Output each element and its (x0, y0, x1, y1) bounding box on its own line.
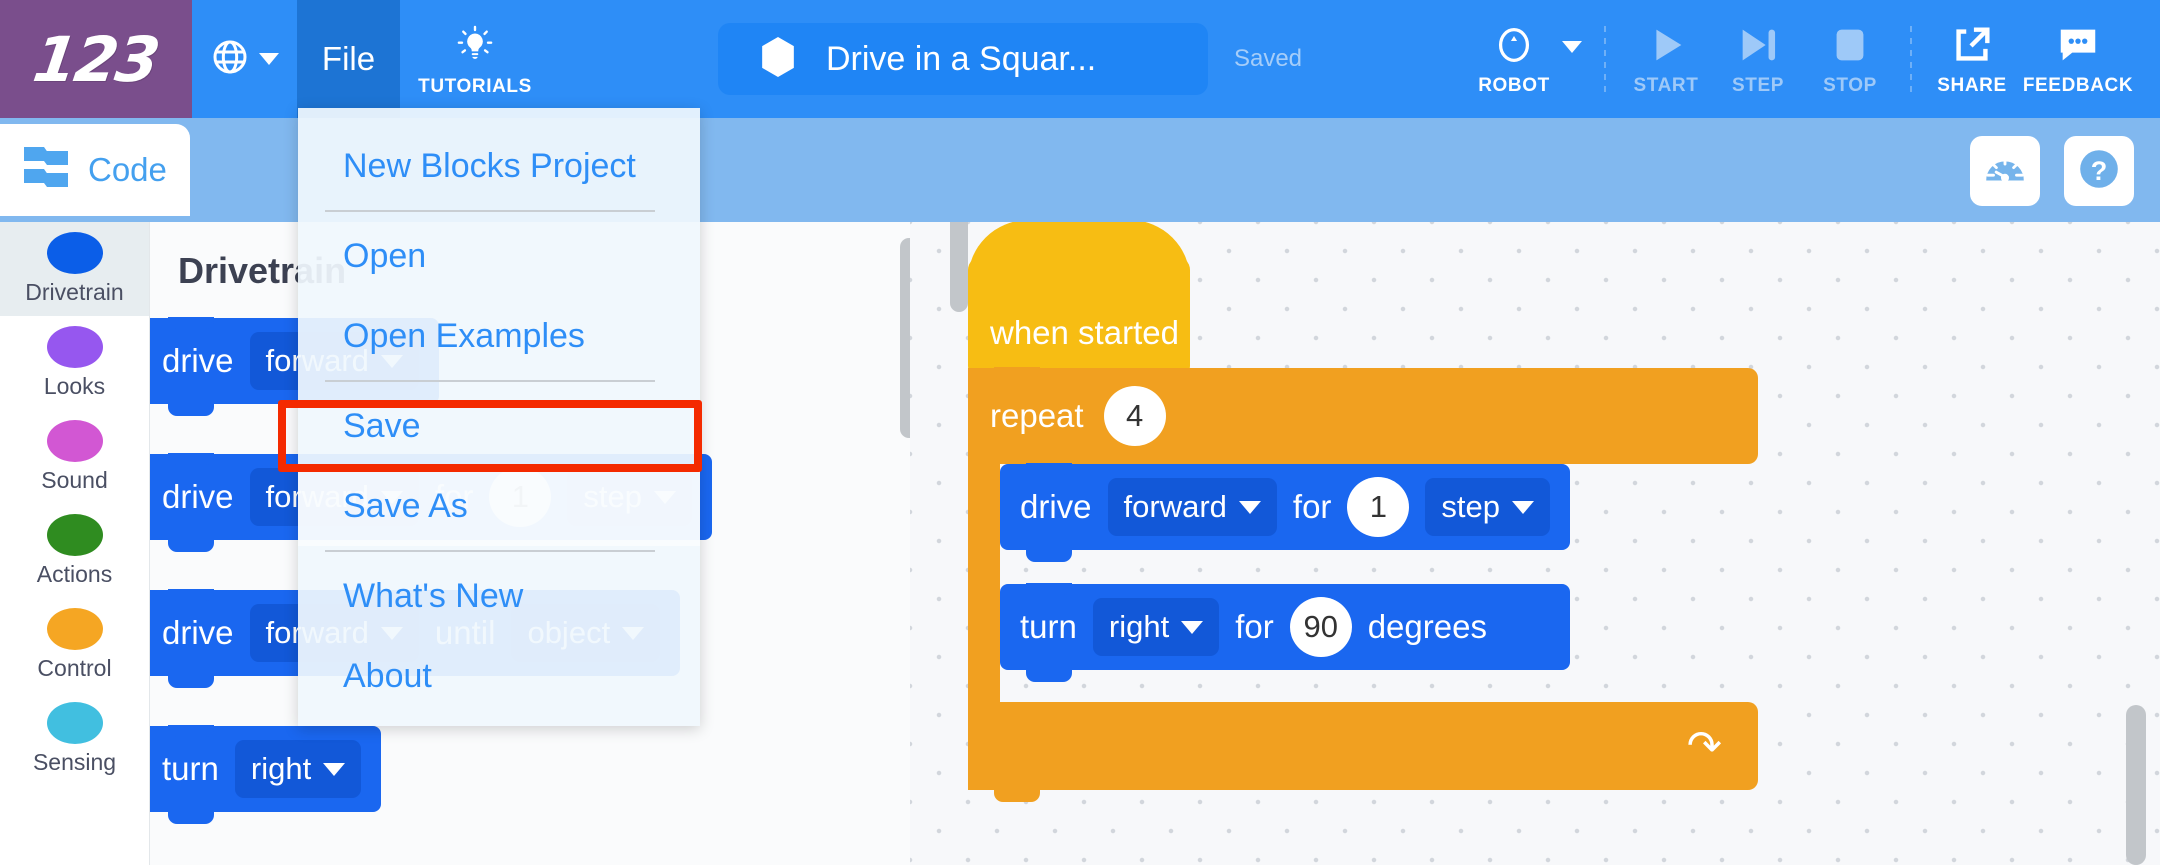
repeat-inner-blocks: drive forward for 1 step turn (1000, 464, 1570, 636)
block-label: for (1235, 608, 1274, 646)
blocks-icon (22, 145, 74, 196)
help-button[interactable]: ? (2064, 136, 2134, 206)
loop-arrow-icon: ↷ (1687, 725, 1722, 767)
chevron-down-icon (1181, 621, 1203, 634)
app-logo[interactable]: 123 (0, 0, 192, 118)
menu-item-label: Open Examples (343, 317, 585, 356)
sidebar-item-control[interactable]: Control (0, 598, 149, 692)
menu-separator (325, 550, 655, 552)
dashboard-button[interactable] (1970, 136, 2040, 206)
svg-text:?: ? (2091, 155, 2108, 185)
toolbar-divider (1910, 26, 1912, 92)
chevron-down-icon (1512, 501, 1534, 514)
play-icon (1643, 22, 1689, 73)
workspace-canvas[interactable]: when started repeat 4 drive forward for (910, 222, 2160, 865)
start-label: START (1634, 75, 1699, 97)
block-label: drive (162, 614, 234, 652)
repeat-block-footer: ↷ (968, 702, 1758, 790)
project-name: Drive in a Squar... (826, 40, 1096, 79)
save-status: Saved (1234, 45, 1302, 73)
sidebar-item-label: Drivetrain (25, 279, 123, 306)
category-dot (47, 232, 103, 274)
repeat-count-input[interactable]: 4 (1104, 386, 1166, 446)
workspace-scrollbar-right[interactable] (2126, 705, 2146, 865)
chevron-down-icon (323, 763, 345, 776)
menu-item-label: What's New (343, 577, 523, 616)
sidebar-item-label: Control (37, 655, 111, 682)
palette-block-turn[interactable]: turn right (150, 726, 381, 812)
feedback-icon (2055, 22, 2101, 73)
menu-item-about[interactable]: About (298, 636, 700, 716)
menu-item-label: New Blocks Project (343, 147, 636, 186)
block-dropdown[interactable]: right (235, 740, 361, 798)
globe-icon (210, 37, 250, 82)
language-selector[interactable] (192, 0, 297, 118)
dropdown-value: right (1109, 609, 1169, 645)
stop-label: STOP (1823, 75, 1877, 97)
step-label: STEP (1732, 75, 1784, 97)
sidebar-item-label: Sound (41, 467, 108, 494)
robot-label: ROBOT (1478, 75, 1550, 97)
menu-item-save[interactable]: Save (298, 386, 700, 466)
feedback-button[interactable]: FEEDBACK (2018, 22, 2138, 97)
repeat-block-header[interactable]: repeat 4 (968, 368, 1758, 464)
robot-controls-group: ROBOT START STEP STOP (1470, 0, 2160, 118)
share-icon (1949, 22, 1995, 73)
block-number-input[interactable]: 1 (1347, 477, 1409, 537)
tutorials-button[interactable]: TUTORIALS (400, 0, 550, 118)
sidebar-item-drivetrain[interactable]: Drivetrain (0, 222, 149, 316)
category-dot (47, 702, 103, 744)
repeat-block-body: drive forward for 1 step turn (968, 464, 1000, 702)
sidebar-item-looks[interactable]: Looks (0, 316, 149, 410)
palette-scrollbar[interactable] (900, 238, 910, 438)
menu-separator (325, 380, 655, 382)
project-area: Drive in a Squar... Saved (718, 0, 1302, 118)
category-dot (47, 514, 103, 556)
menu-item-whats-new[interactable]: What's New (298, 556, 700, 636)
file-dropdown-menu: New Blocks Project Open Open Examples Sa… (298, 108, 700, 726)
category-rail: Drivetrain Looks Sound Actions Control S… (0, 222, 150, 865)
dropdown-value: right (251, 751, 311, 787)
menu-item-open[interactable]: Open (298, 216, 700, 296)
logo-text: 123 (29, 23, 163, 96)
menu-item-label: Open (343, 237, 426, 276)
menu-item-label: Save (343, 407, 421, 446)
menu-separator (325, 210, 655, 212)
block-dropdown[interactable]: right (1093, 598, 1219, 656)
robot-icon (1491, 22, 1537, 73)
step-button[interactable]: STEP (1712, 22, 1804, 97)
dropdown-value: step (1441, 489, 1500, 525)
subbar-actions: ? (1970, 136, 2134, 206)
sidebar-item-sensing[interactable]: Sensing (0, 692, 149, 786)
hexagon-icon (758, 35, 798, 84)
block-label: drive (162, 342, 234, 380)
block-label: turn (1020, 608, 1077, 646)
chevron-down-icon (259, 53, 279, 65)
block-label: drive (1020, 488, 1092, 526)
toolbar-divider (1604, 26, 1606, 92)
block-label: when started (990, 314, 1179, 352)
block-label: drive (162, 478, 234, 516)
share-button[interactable]: SHARE (1926, 22, 2018, 97)
category-dot (47, 326, 103, 368)
category-dot (47, 608, 103, 650)
stop-button[interactable]: STOP (1804, 22, 1896, 97)
sidebar-item-actions[interactable]: Actions (0, 504, 149, 598)
file-menu-label: File (322, 40, 375, 78)
chevron-down-icon (1562, 41, 1582, 53)
tab-code[interactable]: Code (0, 124, 190, 216)
menu-item-label: Save As (343, 487, 468, 526)
sidebar-item-label: Actions (37, 561, 112, 588)
tab-code-label: Code (88, 151, 167, 189)
gauge-icon (1982, 146, 2028, 197)
category-dot (47, 420, 103, 462)
question-icon: ? (2075, 145, 2123, 198)
workspace-scrollbar-left[interactable] (950, 222, 968, 312)
step-icon (1735, 22, 1781, 73)
file-menu-button[interactable]: File (297, 0, 400, 118)
block-label: degrees (1368, 608, 1487, 646)
sidebar-item-label: Sensing (33, 749, 116, 776)
when-started-block[interactable]: when started (968, 256, 1190, 376)
block-number-input[interactable]: 90 (1290, 597, 1352, 657)
robot-button[interactable]: ROBOT (1470, 22, 1590, 97)
menu-item-new-blocks-project[interactable]: New Blocks Project (298, 126, 700, 206)
tutorials-label: TUTORIALS (418, 76, 532, 98)
share-label: SHARE (1937, 75, 2007, 97)
toolbar-spacer-right (1302, 0, 1470, 118)
block-label: turn (162, 750, 219, 788)
turn-block[interactable]: turn right for 90 degrees (1000, 584, 1570, 670)
sidebar-item-label: Looks (44, 373, 105, 400)
start-button[interactable]: START (1620, 22, 1712, 97)
lightbulb-icon (453, 24, 497, 73)
top-toolbar: 123 File (0, 0, 2160, 118)
repeat-block[interactable]: repeat 4 drive forward for 1 step (968, 368, 1758, 790)
stop-icon (1827, 22, 1873, 73)
menu-item-save-as[interactable]: Save As (298, 466, 700, 546)
sidebar-item-sound[interactable]: Sound (0, 410, 149, 504)
block-label: repeat (990, 397, 1084, 435)
project-name-button[interactable]: Drive in a Squar... (718, 23, 1208, 95)
dropdown-value: forward (1124, 489, 1227, 525)
block-dropdown[interactable]: forward (1108, 478, 1277, 536)
chevron-down-icon (1239, 501, 1261, 514)
drive-block[interactable]: drive forward for 1 step (1000, 464, 1570, 550)
toolbar-spacer-left (550, 0, 718, 118)
menu-item-label: About (343, 657, 432, 696)
block-dropdown[interactable]: step (1425, 478, 1550, 536)
block-label: for (1293, 488, 1332, 526)
feedback-label: FEEDBACK (2023, 75, 2133, 97)
menu-item-open-examples[interactable]: Open Examples (298, 296, 700, 376)
